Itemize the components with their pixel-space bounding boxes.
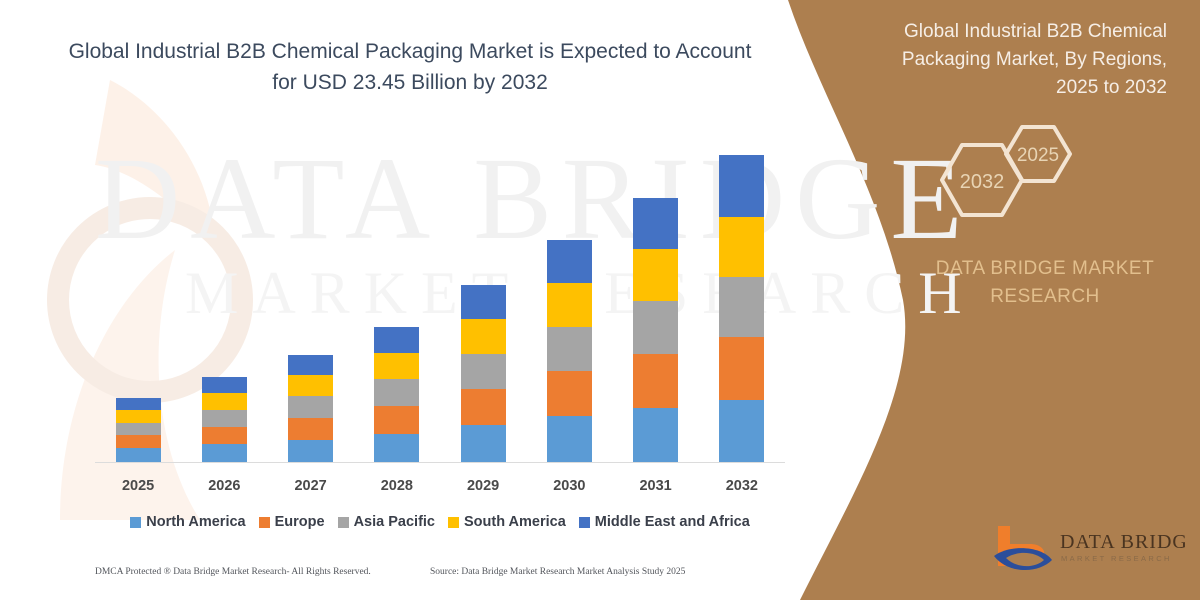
bar-segment <box>202 410 247 427</box>
x-axis-label: 2028 <box>361 478 433 494</box>
dbmr-logo-name: DATA BRIDGE <box>1060 531 1185 553</box>
bar-column <box>447 120 519 462</box>
panel-title: Global Industrial B2B Chemical Packaging… <box>857 18 1167 102</box>
legend-swatch <box>448 517 459 528</box>
bar-stack[interactable] <box>202 377 247 462</box>
x-axis-label: 2031 <box>620 478 692 494</box>
bar-segment <box>374 406 419 434</box>
dbmr-logo-tagline: MARKET RESEARCH <box>1061 554 1172 563</box>
legend-swatch <box>259 517 270 528</box>
x-axis-label: 2029 <box>447 478 519 494</box>
legend-swatch <box>338 517 349 528</box>
legend-label: Middle East and Africa <box>595 514 750 530</box>
bar-segment <box>288 396 333 418</box>
bar-segment <box>547 416 592 462</box>
footer-copyright: DMCA Protected ® Data Bridge Market Rese… <box>95 567 371 577</box>
legend-swatch <box>130 517 141 528</box>
bar-segment <box>374 379 419 406</box>
bar-column <box>102 120 174 462</box>
stacked-bar-chart <box>95 120 785 470</box>
bar-segment <box>719 400 764 462</box>
footer: DMCA Protected ® Data Bridge Market Rese… <box>95 567 795 587</box>
bar-column <box>533 120 605 462</box>
bar-segment <box>288 375 333 396</box>
bar-segment <box>461 354 506 389</box>
bar-segment <box>116 423 161 435</box>
bar-segment <box>547 371 592 416</box>
bar-stack[interactable] <box>719 155 764 462</box>
bar-segment <box>202 393 247 409</box>
bar-segment <box>461 285 506 319</box>
bar-segment <box>547 327 592 372</box>
bar-segment <box>202 444 247 462</box>
bar-segment <box>633 408 678 462</box>
bar-segment <box>461 319 506 354</box>
bar-segment <box>116 398 161 410</box>
legend-item[interactable]: Europe <box>259 514 325 530</box>
bar-segment <box>374 353 419 379</box>
x-axis-label: 2030 <box>533 478 605 494</box>
bar-segment <box>719 217 764 277</box>
x-axis-label: 2027 <box>275 478 347 494</box>
hexagon-group: 2032 2025 <box>930 118 1120 238</box>
hexagon-2032-label: 2032 <box>960 171 1005 193</box>
bar-segment <box>288 418 333 440</box>
bar-segment <box>374 327 419 353</box>
bar-stack[interactable] <box>547 240 592 462</box>
bar-stack[interactable] <box>461 285 506 462</box>
bar-segment <box>547 283 592 326</box>
x-axis-labels: 20252026202720282029203020312032 <box>95 474 785 498</box>
bar-column <box>706 120 778 462</box>
bar-segment <box>719 277 764 337</box>
bar-segment <box>288 440 333 462</box>
bar-segment <box>633 354 678 408</box>
legend-item[interactable]: Asia Pacific <box>338 514 435 530</box>
x-axis-label: 2026 <box>188 478 260 494</box>
hexagon-2025-label: 2025 <box>1017 145 1059 166</box>
bar-stack[interactable] <box>288 355 333 462</box>
bar-segment <box>633 249 678 301</box>
legend-item[interactable]: North America <box>130 514 245 530</box>
bar-segment <box>116 410 161 422</box>
bar-segment <box>633 198 678 250</box>
infographic-canvas: DATA BRIDGE MARKET RESEARCH Global Indus… <box>0 0 1200 600</box>
bar-segment <box>547 240 592 283</box>
legend-label: South America <box>464 514 566 530</box>
x-axis-label: 2032 <box>706 478 778 494</box>
bar-column <box>361 120 433 462</box>
dbmr-logo: DATA BRIDGE MARKET RESEARCH <box>990 522 1185 580</box>
bar-segment <box>116 435 161 448</box>
bar-segment <box>374 434 419 462</box>
brand-line-1: DATA BRIDGE MARKET <box>900 255 1190 283</box>
bar-segment <box>633 301 678 354</box>
bar-stack[interactable] <box>116 398 161 462</box>
bar-stack[interactable] <box>633 198 678 462</box>
bar-column <box>620 120 692 462</box>
bar-segment <box>461 425 506 462</box>
bar-column <box>188 120 260 462</box>
legend-label: Asia Pacific <box>354 514 435 530</box>
bar-segment <box>116 448 161 462</box>
brand-title: DATA BRIDGE MARKET RESEARCH <box>900 255 1190 311</box>
bar-column <box>275 120 347 462</box>
chart-legend: North AmericaEuropeAsia PacificSouth Ame… <box>95 510 785 534</box>
bar-segment <box>461 389 506 425</box>
bar-stack[interactable] <box>374 327 419 462</box>
legend-item[interactable]: South America <box>448 514 566 530</box>
bar-segment <box>202 427 247 445</box>
plot-area <box>95 120 785 463</box>
dbmr-logo-mark <box>994 526 1052 570</box>
bar-group <box>95 120 785 462</box>
bar-segment <box>719 337 764 400</box>
legend-item[interactable]: Middle East and Africa <box>579 514 750 530</box>
footer-source: Source: Data Bridge Market Research Mark… <box>430 567 685 577</box>
bar-segment <box>202 377 247 393</box>
bar-segment <box>719 155 764 217</box>
legend-label: North America <box>146 514 245 530</box>
x-axis-line <box>95 462 785 463</box>
legend-swatch <box>579 517 590 528</box>
legend-label: Europe <box>275 514 325 530</box>
bar-segment <box>288 355 333 375</box>
page-title: Global Industrial B2B Chemical Packaging… <box>60 36 760 98</box>
brand-line-2: RESEARCH <box>900 283 1190 311</box>
x-axis-label: 2025 <box>102 478 174 494</box>
